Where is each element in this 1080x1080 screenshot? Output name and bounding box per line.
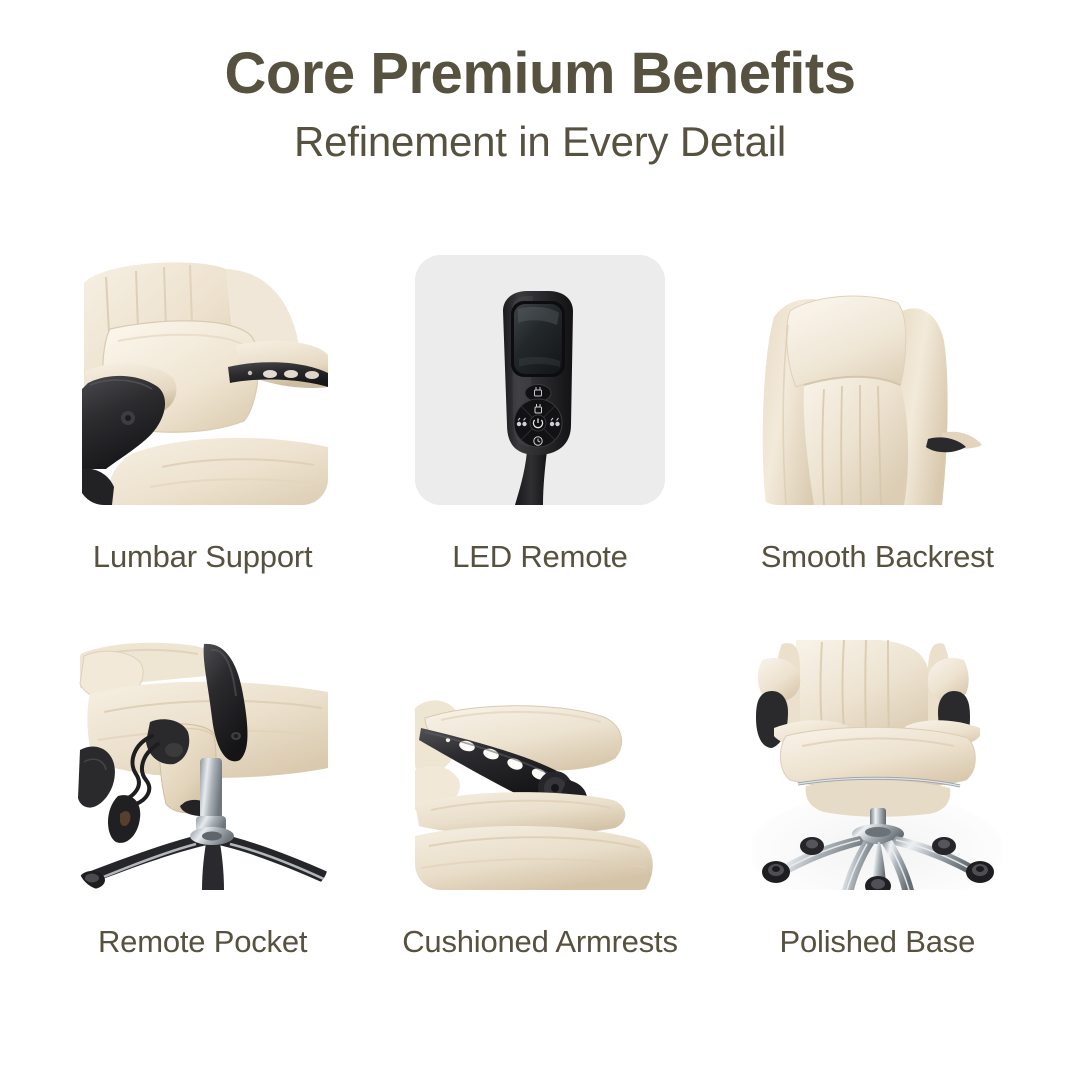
benefit-image-polished-base (752, 640, 1002, 890)
benefit-card-lumbar-support[interactable]: Lumbar Support (40, 255, 365, 640)
benefit-image-cushioned-armrests (415, 640, 665, 890)
benefit-image-smooth-backrest (752, 255, 1002, 505)
page-subtitle: Refinement in Every Detail (0, 119, 1080, 165)
caster-icon (966, 861, 994, 883)
benefit-label-cushioned-armrests: Cushioned Armrests (402, 924, 678, 960)
benefit-card-cushioned-armrests[interactable]: Cushioned Armrests (377, 640, 702, 1025)
caster-icon (800, 837, 824, 855)
benefit-label-led-remote: LED Remote (452, 539, 627, 575)
infographic-page: Core Premium Benefits Refinement in Ever… (0, 0, 1080, 1080)
header: Core Premium Benefits Refinement in Ever… (0, 44, 1080, 165)
benefit-label-smooth-backrest: Smooth Backrest (761, 539, 994, 575)
page-title: Core Premium Benefits (0, 44, 1080, 105)
benefit-card-smooth-backrest[interactable]: Smooth Backrest (715, 255, 1040, 640)
benefit-card-led-remote[interactable]: LED Remote (377, 255, 702, 640)
benefit-card-polished-base[interactable]: Polished Base (715, 640, 1040, 1025)
benefit-image-lumbar-support (78, 255, 328, 505)
benefit-label-remote-pocket: Remote Pocket (98, 924, 307, 960)
benefit-image-remote-pocket (78, 640, 328, 890)
benefit-label-polished-base: Polished Base (780, 924, 976, 960)
benefit-image-led-remote (415, 255, 665, 505)
benefit-card-remote-pocket[interactable]: Remote Pocket (40, 640, 365, 1025)
caster-icon (932, 837, 956, 855)
power-icon (530, 415, 546, 431)
benefit-label-lumbar-support: Lumbar Support (93, 539, 313, 575)
caster-icon (762, 861, 790, 883)
benefits-grid: Lumbar Support (40, 255, 1040, 1025)
